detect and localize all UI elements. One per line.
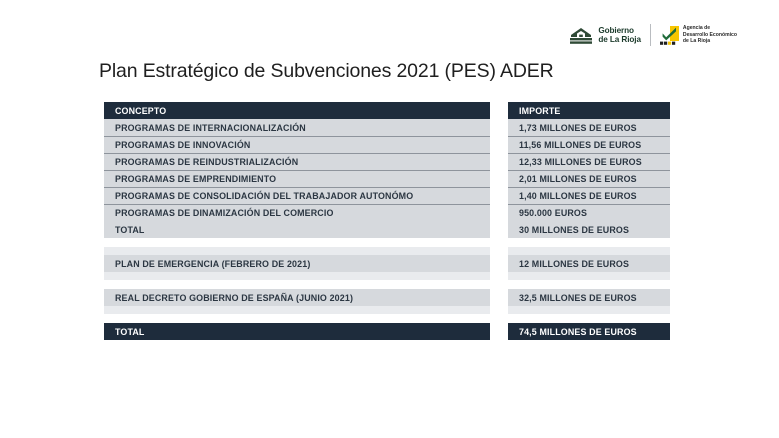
ader-logo-line1: Agencia de [683,25,710,31]
cell-concepto: TOTAL [104,323,490,340]
table-row: REAL DECRETO GOBIERNO DE ESPAÑA (JUNIO 2… [104,289,670,306]
column-gap [490,119,508,136]
table-row: PLAN DE EMERGENCIA (FEBRERO DE 2021)12 M… [104,255,670,272]
cell-importe: 2,01 MILLONES DE EUROS [508,170,670,187]
logo-divider [650,24,651,46]
table-row: TOTAL30 MILLONES DE EUROS [104,221,670,238]
column-gap [490,170,508,187]
column-gap [490,247,508,255]
page-title: Plan Estratégico de Subvenciones 2021 (P… [99,60,554,83]
cell-concepto: PROGRAMAS DE EMPRENDIMIENTO [104,170,490,187]
cell-importe: 12,33 MILLONES DE EUROS [508,153,670,170]
table-total-row: TOTAL74,5 MILLONES DE EUROS [104,323,670,340]
table-row: PROGRAMAS DE INTERNACIONALIZACIÓN1,73 MI… [104,119,670,136]
ader-agencia-logo: Agencia de Desarrollo Económico de La Ri… [660,25,737,45]
table-spacer-row [104,238,670,247]
gobierno-logo-line2: de La Rioja [598,35,641,44]
column-gap [490,306,508,314]
cell-concepto: PROGRAMAS DE INNOVACIÓN [104,136,490,153]
cell-concepto [104,247,490,255]
column-gap [490,255,508,272]
cell-concepto [104,306,490,314]
table-spacer-row [104,314,670,323]
cell-concepto: TOTAL [104,221,490,238]
cell-concepto: PLAN DE EMERGENCIA (FEBRERO DE 2021) [104,255,490,272]
cell-concepto: REAL DECRETO GOBIERNO DE ESPAÑA (JUNIO 2… [104,289,490,306]
cell-importe [508,238,670,247]
logo-bar: Gobierno de La Rioja Agencia de Desarrol… [568,24,737,46]
table-spacer-row [104,247,670,255]
ader-logo-line3: de La Rioja [683,38,710,44]
table-row: PROGRAMAS DE DINAMIZACIÓN DEL COMERCIO95… [104,204,670,221]
column-gap [490,289,508,306]
cell-concepto: PROGRAMAS DE INTERNACIONALIZACIÓN [104,119,490,136]
cell-importe: 1,73 MILLONES DE EUROS [508,119,670,136]
column-gap [490,280,508,289]
column-gap [490,314,508,323]
cell-importe: 1,40 MILLONES DE EUROS [508,187,670,204]
column-gap [490,272,508,280]
gobierno-logo-line1: Gobierno [598,26,634,35]
column-gap [490,187,508,204]
ader-logo-text: Agencia de Desarrollo Económico de La Ri… [683,25,737,45]
table-header-row: CONCEPTOIMPORTE [104,102,670,119]
table-row: PROGRAMAS DE EMPRENDIMIENTO2,01 MILLONES… [104,170,670,187]
rioja-crest-icon [568,26,594,45]
cell-concepto [104,314,490,323]
column-header-importe: IMPORTE [508,102,670,119]
cell-importe [508,306,670,314]
cell-concepto [104,238,490,247]
cell-concepto: PROGRAMAS DE CONSOLIDACIÓN DEL TRABAJADO… [104,187,490,204]
ader-checkmark-icon [660,26,679,45]
table-spacer-row [104,272,670,280]
column-gap [490,221,508,238]
cell-importe: 74,5 MILLONES DE EUROS [508,323,670,340]
column-gap [490,136,508,153]
column-gap [490,153,508,170]
ader-logo-line2: Desarrollo Económico [683,32,737,38]
table-spacer-row [104,306,670,314]
table-row: PROGRAMAS DE CONSOLIDACIÓN DEL TRABAJADO… [104,187,670,204]
gobierno-de-la-rioja-logo: Gobierno de La Rioja [568,26,641,45]
column-gap [490,238,508,247]
cell-importe: 950.000 EUROS [508,204,670,221]
gobierno-logo-text: Gobierno de La Rioja [598,26,641,45]
cell-concepto [104,272,490,280]
cell-importe [508,314,670,323]
cell-importe [508,272,670,280]
column-header-concepto: CONCEPTO [104,102,490,119]
subvenciones-table: CONCEPTOIMPORTEPROGRAMAS DE INTERNACIONA… [104,102,670,340]
cell-concepto: PROGRAMAS DE REINDUSTRIALIZACIÓN [104,153,490,170]
cell-importe: 12 MILLONES DE EUROS [508,255,670,272]
cell-importe: 32,5 MILLONES DE EUROS [508,289,670,306]
column-gap [490,102,508,119]
cell-concepto [104,280,490,289]
cell-importe: 30 MILLONES DE EUROS [508,221,670,238]
column-gap [490,204,508,221]
cell-importe [508,280,670,289]
cell-concepto: PROGRAMAS DE DINAMIZACIÓN DEL COMERCIO [104,204,490,221]
cell-importe: 11,56 MILLONES DE EUROS [508,136,670,153]
column-gap [490,323,508,340]
table-row: PROGRAMAS DE INNOVACIÓN11,56 MILLONES DE… [104,136,670,153]
cell-importe [508,247,670,255]
table-spacer-row [104,280,670,289]
table-row: PROGRAMAS DE REINDUSTRIALIZACIÓN12,33 MI… [104,153,670,170]
